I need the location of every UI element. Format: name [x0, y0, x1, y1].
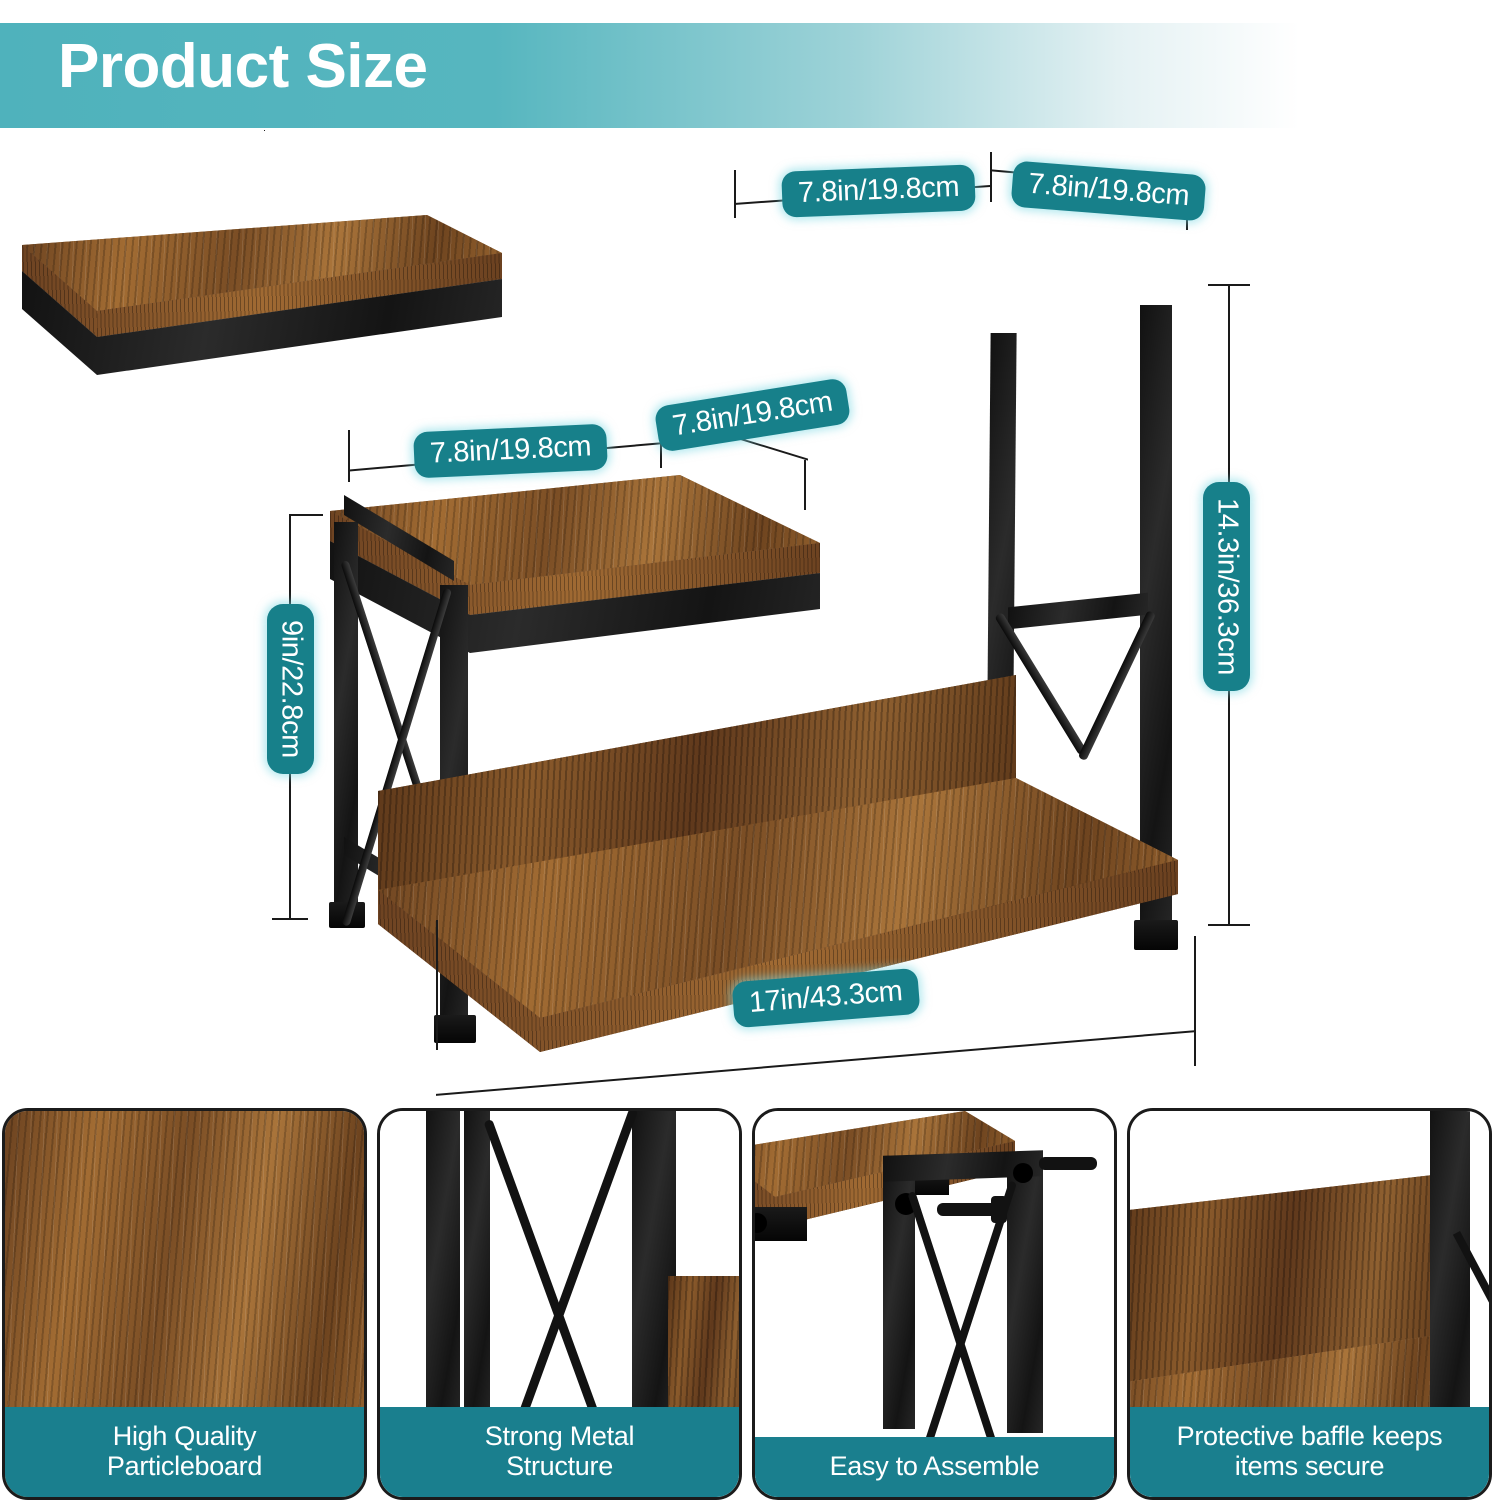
feature-caption-metal-structure: Strong Metal Structure [380, 1407, 739, 1497]
feature-caption-easy-assemble: Easy to Assemble [755, 1437, 1114, 1497]
feature-caption-line2: items secure [1235, 1451, 1384, 1481]
page-title: Product Size [58, 36, 428, 98]
dim-tick-upper-width-right [990, 152, 992, 202]
right-leg-outer-foot [1134, 920, 1178, 950]
feature-caption-particleboard: High Quality Particleboard [5, 1407, 364, 1497]
dim-tick-left-height-top [289, 514, 323, 516]
dim-tick-right-height-bottom [1208, 924, 1250, 926]
feature-card-metal-structure[interactable]: Strong Metal Structure [377, 1108, 742, 1500]
dim-badge-right-height: 14.3in/36.3cm [1203, 482, 1250, 691]
feature-card-row: High Quality Particleboard Strong Metal … [0, 1108, 1494, 1500]
left-leg-front-foot [434, 1015, 476, 1043]
feature-caption-line1: High Quality [113, 1421, 256, 1451]
product-illustration: 7.8in/19.8cm 7.8in/19.8cm 7.8in/19.8cm 7… [0, 130, 1494, 1090]
dim-badge-left-height: 9in/22.8cm [267, 604, 314, 774]
dim-tick-lower-width-left [348, 430, 350, 482]
feature-caption-line1: Protective baffle keeps [1177, 1421, 1443, 1451]
feature-card-easy-assemble[interactable]: Easy to Assemble [752, 1108, 1117, 1500]
dim-badge-upper-depth: 7.8in/19.8cm [1010, 160, 1206, 221]
feature-caption-line2: Structure [506, 1451, 613, 1481]
dim-tick-overall-width-left [436, 920, 438, 1050]
feature-card-baffle[interactable]: Protective baffle keeps items secure [1127, 1108, 1492, 1500]
dim-tick-overall-width-right [1194, 936, 1196, 1066]
feature-caption-line2: Particleboard [107, 1451, 262, 1481]
feature-caption-baffle: Protective baffle keeps items secure [1130, 1407, 1489, 1497]
feature-caption-line1: Easy to Assemble [830, 1451, 1040, 1481]
dim-badge-lower-width: 7.8in/19.8cm [413, 424, 608, 479]
feature-caption-line1: Strong Metal [485, 1421, 634, 1451]
dim-tick-left-height-bottom [272, 918, 308, 920]
upper-leg-front [264, 130, 265, 131]
dim-badge-upper-width: 7.8in/19.8cm [781, 164, 976, 218]
dim-tick-lower-depth-right [804, 460, 806, 510]
dim-tick-upper-width-left [734, 170, 736, 218]
feature-card-particleboard[interactable]: High Quality Particleboard [2, 1108, 367, 1500]
